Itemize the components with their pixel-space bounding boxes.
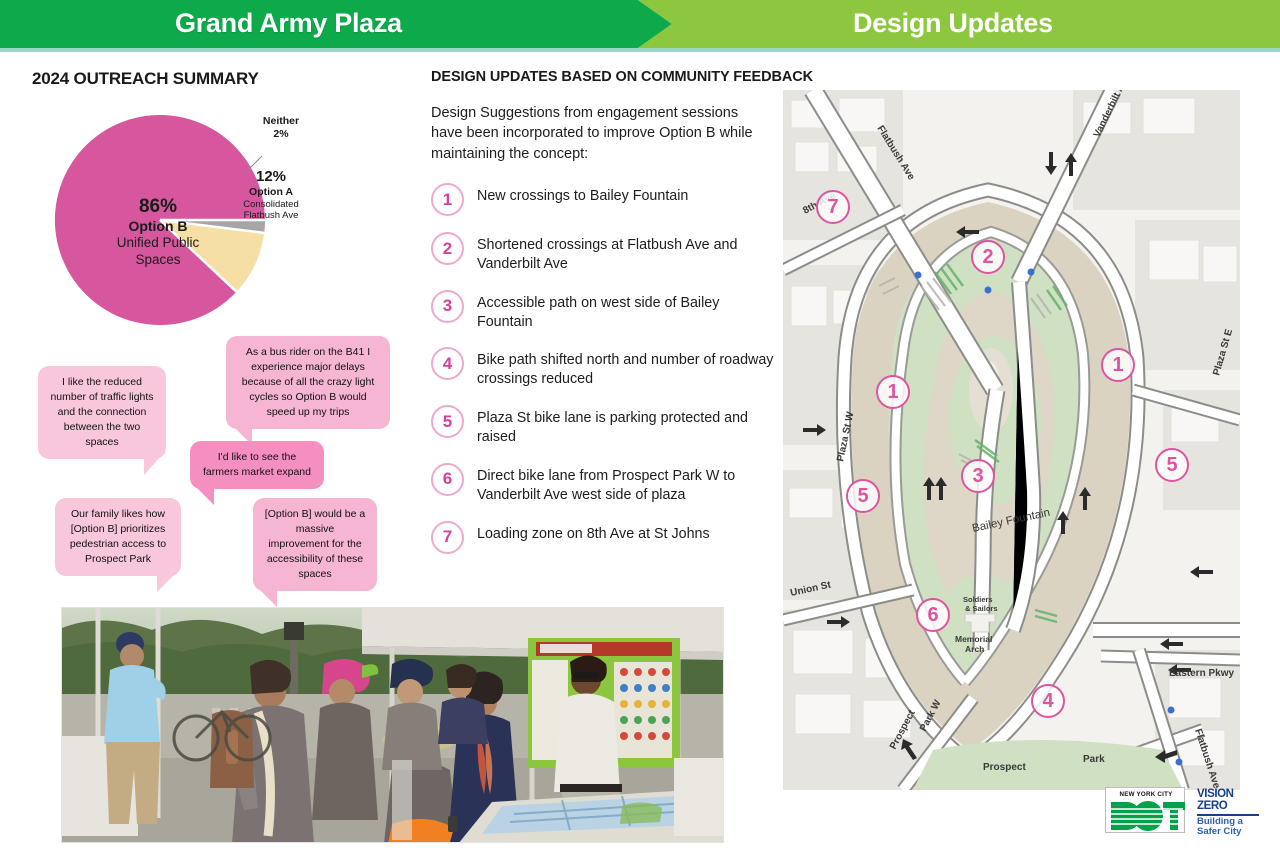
- quote-text: As a bus rider on the B41 I experience m…: [242, 346, 375, 418]
- outreach-summary-title: 2024 OUTREACH SUMMARY: [32, 69, 259, 89]
- neither-name: Neither: [226, 115, 336, 128]
- slide-header: Grand Army Plaza Design Updates: [0, 0, 1280, 48]
- nyc-dot-logo: NEW YORK CITY: [1105, 787, 1185, 833]
- nyc-dot-logo-top-text: NEW YORK CITY: [1110, 791, 1182, 798]
- option-a-name: Option A: [216, 186, 326, 199]
- quote-bubble: [Option B] would be a massive improvemen…: [253, 498, 377, 591]
- option-b-name: Option B: [88, 218, 228, 235]
- option-a-sub-2: Flatbush Ave: [216, 210, 326, 221]
- map-marker-4[interactable]: 4: [1031, 684, 1065, 718]
- bubble-tail-icon: [157, 574, 175, 592]
- map-marker-7[interactable]: 7: [816, 190, 850, 224]
- quote-bubble: I'd like to see the farmers market expan…: [190, 441, 324, 489]
- step-number-badge: 5: [431, 405, 464, 438]
- option-a-sub-1: Consolidated: [216, 199, 326, 210]
- vision-zero-line-4: Safer City: [1197, 827, 1267, 837]
- step-number-badge: 7: [431, 521, 464, 554]
- map-label-park: Park: [1083, 754, 1105, 765]
- quote-text: [Option B] would be a massive improvemen…: [265, 508, 365, 580]
- map-label-soldiers-sailors: Soldiers: [963, 595, 993, 604]
- quote-bubble: I like the reduced number of traffic lig…: [38, 366, 166, 459]
- neither-percent: 2%: [226, 128, 336, 141]
- design-update-item: 1 New crossings to Bailey Fountain: [431, 183, 776, 216]
- quote-bubble: Our family likes how [Option B] prioriti…: [55, 498, 181, 576]
- header-left-title: Grand Army Plaza: [175, 8, 402, 39]
- bubble-tail-icon: [196, 487, 214, 505]
- pie-label-option-b: 86% Option B Unified Public Spaces: [88, 195, 228, 268]
- design-update-item: 6 Direct bike lane from Prospect Park W …: [431, 463, 776, 505]
- presentation-slide: Grand Army Plaza Design Updates 2024 OUT…: [0, 0, 1280, 853]
- outreach-event-photo: [61, 607, 724, 843]
- pie-label-option-a: 12% Option A Consolidated Flatbush Ave: [216, 168, 326, 221]
- map-marker-1-west[interactable]: 1: [876, 375, 910, 409]
- footer-logos: NEW YORK CITY VISION ZERO Building a: [1105, 787, 1265, 839]
- design-updates-intro: Design Suggestions from engagement sessi…: [431, 103, 771, 164]
- quote-bubble: As a bus rider on the B41 I experience m…: [226, 336, 390, 429]
- step-description: Bike path shifted north and number of ro…: [477, 347, 776, 389]
- dot-wordmark-icon: [1107, 800, 1185, 832]
- step-description: Loading zone on 8th Ave at St Johns: [477, 521, 710, 544]
- step-number-badge: 1: [431, 183, 464, 216]
- option-b-sub-2: Spaces: [88, 252, 228, 268]
- map-label-memorial-arch-2: Arch: [965, 644, 984, 654]
- map-marker-5-east[interactable]: 5: [1155, 448, 1189, 482]
- step-description: Accessible path on west side of Bailey F…: [477, 290, 776, 332]
- map-marker-2[interactable]: 2: [971, 240, 1005, 274]
- quote-text: Our family likes how [Option B] prioriti…: [70, 508, 166, 565]
- header-right-title: Design Updates: [853, 8, 1053, 39]
- map-marker-3[interactable]: 3: [961, 459, 995, 493]
- option-b-sub-1: Unified Public: [88, 235, 228, 251]
- vision-zero-logo: VISION ZERO Building a Safer City: [1197, 788, 1267, 837]
- step-description: New crossings to Bailey Fountain: [477, 183, 688, 206]
- map-label-memorial-arch: Memorial: [955, 634, 992, 644]
- grand-army-plaza-map: Flatbush Ave Vanderbilt Ave 8th Ave Plaz…: [783, 90, 1240, 790]
- design-updates-title: DESIGN UPDATES BASED ON COMMUNITY FEEDBA…: [431, 69, 813, 85]
- map-label-prospect: Prospect: [983, 762, 1026, 773]
- step-description: Plaza St bike lane is parking protected …: [477, 405, 776, 447]
- map-label-soldiers-sailors-2: & Sailors: [965, 604, 998, 613]
- design-update-item: 5 Plaza St bike lane is parking protecte…: [431, 405, 776, 447]
- step-description: Shortened crossings at Flatbush Ave and …: [477, 232, 776, 274]
- step-description: Direct bike lane from Prospect Park W to…: [477, 463, 776, 505]
- header-underline: [0, 48, 1280, 52]
- photo-illustration: [62, 608, 724, 843]
- vision-zero-line-1: VISION: [1197, 788, 1267, 800]
- map-svg: Flatbush Ave Vanderbilt Ave 8th Ave Plaz…: [783, 90, 1240, 790]
- option-b-percent: 86%: [88, 195, 228, 218]
- map-label-eastern-pkwy: Eastern Pkwy: [1169, 668, 1234, 679]
- design-update-item: 2 Shortened crossings at Flatbush Ave an…: [431, 232, 776, 274]
- map-marker-5-west[interactable]: 5: [846, 479, 880, 513]
- step-number-badge: 2: [431, 232, 464, 265]
- pie-label-neither: Neither 2%: [226, 115, 336, 141]
- design-update-item: 7 Loading zone on 8th Ave at St Johns: [431, 521, 776, 554]
- quote-text: I'd like to see the farmers market expan…: [203, 451, 311, 478]
- outreach-pie-chart: 86% Option B Unified Public Spaces 12% O…: [50, 110, 275, 332]
- design-update-item: 3 Accessible path on west side of Bailey…: [431, 290, 776, 332]
- quote-text: I like the reduced number of traffic lig…: [50, 376, 153, 448]
- map-marker-1-east[interactable]: 1: [1101, 348, 1135, 382]
- step-number-badge: 6: [431, 463, 464, 496]
- bubble-tail-icon: [259, 589, 277, 607]
- step-number-badge: 4: [431, 347, 464, 380]
- design-update-item: 4 Bike path shifted north and number of …: [431, 347, 776, 389]
- option-a-percent: 12%: [216, 168, 326, 186]
- step-number-badge: 3: [431, 290, 464, 323]
- bubble-tail-icon: [144, 457, 160, 475]
- design-updates-list: 1 New crossings to Bailey Fountain 2 Sho…: [431, 183, 776, 570]
- vision-zero-line-2: ZERO: [1197, 800, 1267, 812]
- map-marker-6[interactable]: 6: [916, 598, 950, 632]
